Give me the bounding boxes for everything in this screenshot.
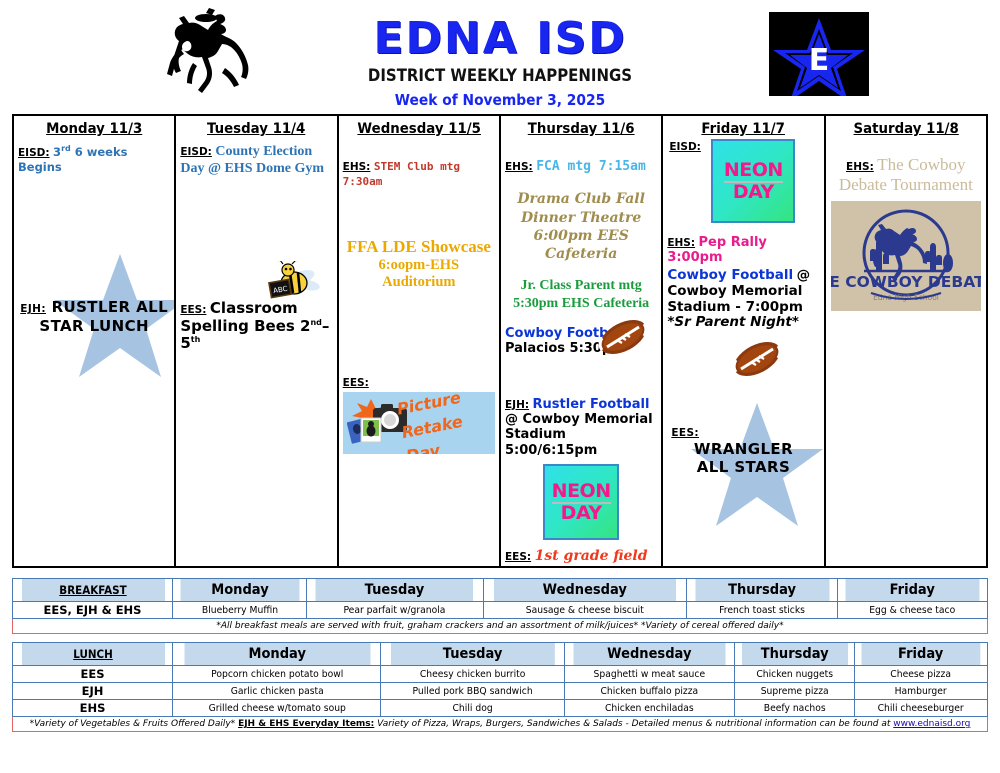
note-rest: Variety of Pizza, Wraps, Burgers, Sandwi… bbox=[374, 719, 893, 729]
table-row: EJH Garlic chicken pasta Pulled pork BBQ… bbox=[13, 683, 988, 700]
school-label: EHS bbox=[13, 700, 173, 717]
event-ees-friday: EES: WRANGLER ALL STARS bbox=[667, 427, 819, 476]
edna-star-logo: E bbox=[769, 12, 869, 96]
menu-item: Garlic chicken pasta bbox=[181, 683, 373, 700]
column-header-wednesday: Wednesday bbox=[494, 579, 677, 602]
school-tag: EISD: bbox=[669, 141, 701, 153]
menu-item: Supreme pizza bbox=[740, 683, 850, 700]
menu-item: Cheese pizza bbox=[860, 666, 983, 683]
school-tag: EHS: bbox=[343, 161, 371, 173]
column-header-monday: Monday bbox=[183, 643, 371, 666]
event-line1: RUSTLER ALL bbox=[52, 298, 168, 316]
event-rustler-football-thursday: EJH: Rustler Football @ Cowboy MemorialS… bbox=[505, 397, 657, 458]
neon-day-badge-thursday: NEON DAY bbox=[543, 464, 619, 540]
lunch-note-row: *Variety of Vegetables & Fruits Offered … bbox=[13, 717, 988, 732]
column-header-tuesday: Tuesday bbox=[315, 579, 474, 602]
school-label: EES bbox=[13, 666, 173, 683]
note-italic: *Variety of Vegetables & Fruits Offered … bbox=[30, 719, 236, 729]
star-logo-letter: E bbox=[809, 43, 830, 78]
event-ehs-thursday: EHS: FCA mtg 7:15am bbox=[505, 159, 657, 174]
logo-title: THE COWBOY DEBATES bbox=[831, 273, 981, 291]
event-title: Rustler Football bbox=[533, 397, 650, 412]
school-tag: EES: bbox=[671, 427, 819, 440]
breakfast-header-row: BREAKFAST Monday Tuesday Wednesday Thurs… bbox=[13, 579, 988, 602]
event-ejh-monday: EJH: RUSTLER ALL STAR LUNCH bbox=[18, 298, 170, 335]
event-eisd-monday: EISD: 3rd 6 weeks Begins bbox=[18, 144, 170, 174]
school-label: EJH bbox=[13, 683, 173, 700]
event-detail: @ Cowboy MemorialStadium 5:00/6:15pm bbox=[505, 412, 653, 458]
school-tag: EES: bbox=[343, 377, 369, 389]
event-title: Cowboy Football bbox=[667, 267, 793, 283]
lunch-note: *Variety of Vegetables & Fruits Offered … bbox=[13, 717, 988, 732]
day-column-friday: Friday 11/7 EISD: NEON DAY EHS: Pep Rall… bbox=[663, 116, 825, 566]
school-tag: EJH: bbox=[505, 399, 529, 411]
lunch-header-row: LUNCH Monday Tuesday Wednesday Thursday … bbox=[13, 643, 988, 666]
menu-item: Beefy nachos bbox=[740, 700, 850, 717]
day-column-saturday: Saturday 11/8 EHS: The Cowboy Debate Tou… bbox=[826, 116, 986, 566]
day-header-wednesday: Wednesday 11/5 bbox=[349, 121, 489, 137]
football-icon bbox=[595, 315, 651, 359]
event-jrclass-thursday: Jr. Class Parent mtg 5:30pm EHS Cafeteri… bbox=[505, 277, 657, 312]
breakfast-menu-table: BREAKFAST Monday Tuesday Wednesday Thurs… bbox=[12, 578, 988, 634]
event-ffa-wednesday: FFA LDE Showcase 6:oopm-EHS Auditorium bbox=[343, 237, 495, 291]
banner-text: Picture Retake Day bbox=[395, 392, 495, 454]
logo-subtitle: Edna High School bbox=[873, 293, 939, 302]
menu-item: Hamburger bbox=[860, 683, 983, 700]
menu-item: Chili cheeseburger bbox=[860, 700, 983, 717]
event-pep-rally-friday: EHS: Pep Rally 3:00pm bbox=[667, 235, 819, 266]
event-ees-tuesday: EES: ClassroomSpelling Bees 2nd–5th bbox=[180, 300, 332, 353]
school-tag: EES: bbox=[505, 551, 531, 563]
menu-item: Sausage & cheese biscuit bbox=[492, 602, 679, 619]
day-column-monday: Monday 11/3 EISD: 3rd 6 weeks Begins EJH… bbox=[14, 116, 176, 566]
neon-day-badge-friday: NEON DAY bbox=[711, 139, 795, 223]
week-grid: Monday 11/3 EISD: 3rd 6 weeks Begins EJH… bbox=[12, 114, 988, 568]
neon-line2: DAY bbox=[561, 504, 602, 523]
column-header-thursday: Thursday bbox=[741, 643, 848, 666]
ednaisd-website-link[interactable]: www.ednaisd.org bbox=[893, 719, 970, 729]
page-header: EDNA ISD DISTRICT WEEKLY HAPPENINGS Week… bbox=[0, 0, 1000, 110]
event-text: FCA mtg 7:15am bbox=[536, 159, 646, 174]
table-row: EES Popcorn chicken potato bowl Cheesy c… bbox=[13, 666, 988, 683]
weekly-happenings-page: EDNA ISD DISTRICT WEEKLY HAPPENINGS Week… bbox=[0, 0, 1000, 773]
menu-item: Chili dog bbox=[388, 700, 557, 717]
breakfast-note: *All breakfast meals are served with fru… bbox=[13, 619, 988, 634]
event-ees-thursday: EES: 1st grade field trip bbox=[505, 548, 657, 566]
event-eisd-tuesday: EISD: County Election Day @ EHS Dome Gym bbox=[180, 144, 332, 177]
menu-item: Blueberry Muffin bbox=[178, 602, 301, 619]
event-line1: WRANGLER bbox=[694, 440, 793, 458]
menu-item: Pulled pork BBQ sandwich bbox=[388, 683, 557, 700]
school-tag: EISD: bbox=[18, 147, 50, 159]
event-cowboy-football-thursday: Cowboy Football @Palacios 5:30pm bbox=[505, 326, 657, 357]
day-column-tuesday: Tuesday 11/4 EISD: County Election Day @… bbox=[176, 116, 338, 566]
day-header-friday: Friday 11/7 bbox=[673, 121, 813, 137]
menu-item: Grilled cheese w/tomato soup bbox=[181, 700, 373, 717]
day-header-monday: Monday 11/3 bbox=[24, 121, 164, 137]
school-tag: EHS: bbox=[846, 161, 874, 173]
day-column-wednesday: Wednesday 11/5 EHS: STEM Club mtg 7:30am… bbox=[339, 116, 501, 566]
picture-retake-day-banner: Picture Retake Day bbox=[343, 392, 495, 454]
football-icon bbox=[729, 337, 785, 381]
event-line2: STAR LUNCH bbox=[39, 317, 149, 335]
note-underline: EJH & EHS Everyday Items: bbox=[238, 719, 374, 729]
event-text-2: 6:oopm-EHS Auditorium bbox=[343, 257, 495, 291]
table-row: EHS Grilled cheese w/tomato soup Chili d… bbox=[13, 700, 988, 717]
lunch-label: LUNCH bbox=[21, 643, 165, 666]
menu-item: Chicken buffalo pizza bbox=[571, 683, 728, 700]
neon-line1: NEON bbox=[724, 161, 783, 183]
menu-item: Chicken enchiladas bbox=[571, 700, 728, 717]
neon-line2: DAY bbox=[733, 183, 774, 202]
event-text: FFA LDE Showcase bbox=[343, 237, 495, 257]
column-header-wednesday: Wednesday bbox=[573, 643, 727, 666]
menu-item: Popcorn chicken potato bowl bbox=[181, 666, 373, 683]
event-ees-wednesday: EES: bbox=[343, 375, 495, 390]
event-ehs-saturday: EHS: The Cowboy Debate Tournament bbox=[830, 155, 982, 195]
menu-item: Pear parfait w/granola bbox=[314, 602, 477, 619]
event-ehs-wednesday: EHS: STEM Club mtg 7:30am bbox=[343, 159, 495, 189]
school-tag: EHS: bbox=[505, 161, 533, 173]
event-cowboy-football-friday: Cowboy Football @Cowboy MemorialStadium … bbox=[667, 268, 819, 332]
breakfast-label: BREAKFAST bbox=[21, 579, 165, 602]
cowboy-debates-logo: THE COWBOY DEBATES Edna High School bbox=[831, 201, 981, 311]
column-header-friday: Friday bbox=[861, 643, 981, 666]
column-header-monday: Monday bbox=[179, 579, 300, 602]
event-line2: ALL STARS bbox=[697, 458, 790, 476]
school-tag: EISD: bbox=[180, 146, 212, 158]
column-header-tuesday: Tuesday bbox=[390, 643, 555, 666]
breakfast-note-row: *All breakfast meals are served with fru… bbox=[13, 619, 988, 634]
day-column-thursday: Thursday 11/6 EHS: FCA mtg 7:15am Drama … bbox=[501, 116, 663, 566]
school-label: EES, EJH & EHS bbox=[13, 602, 173, 619]
table-row: EES, EJH & EHS Blueberry Muffin Pear par… bbox=[13, 602, 988, 619]
lunch-menu-table: LUNCH Monday Tuesday Wednesday Thursday … bbox=[12, 642, 988, 732]
day-header-tuesday: Tuesday 11/4 bbox=[186, 121, 326, 137]
day-header-saturday: Saturday 11/8 bbox=[836, 121, 976, 137]
school-tag: EHS: bbox=[667, 237, 695, 249]
school-tag: EES: bbox=[180, 304, 206, 316]
column-header-friday: Friday bbox=[845, 579, 980, 602]
banner-line2: Retake Day bbox=[400, 412, 464, 454]
menu-item: Spaghetti w meat sauce bbox=[571, 666, 728, 683]
event-drama-thursday: Drama Club Fall Dinner Theatre 6:00pm EE… bbox=[505, 190, 657, 263]
neon-line1: NEON bbox=[552, 482, 611, 504]
menu-item: Chicken nuggets bbox=[740, 666, 850, 683]
menu-item: Cheesy chicken burrito bbox=[388, 666, 557, 683]
day-header-thursday: Thursday 11/6 bbox=[511, 121, 651, 137]
menu-item: French toast sticks bbox=[693, 602, 831, 619]
column-header-thursday: Thursday bbox=[694, 579, 829, 602]
menu-item: Egg & cheese taco bbox=[843, 602, 981, 619]
school-tag: EJH: bbox=[20, 303, 46, 315]
